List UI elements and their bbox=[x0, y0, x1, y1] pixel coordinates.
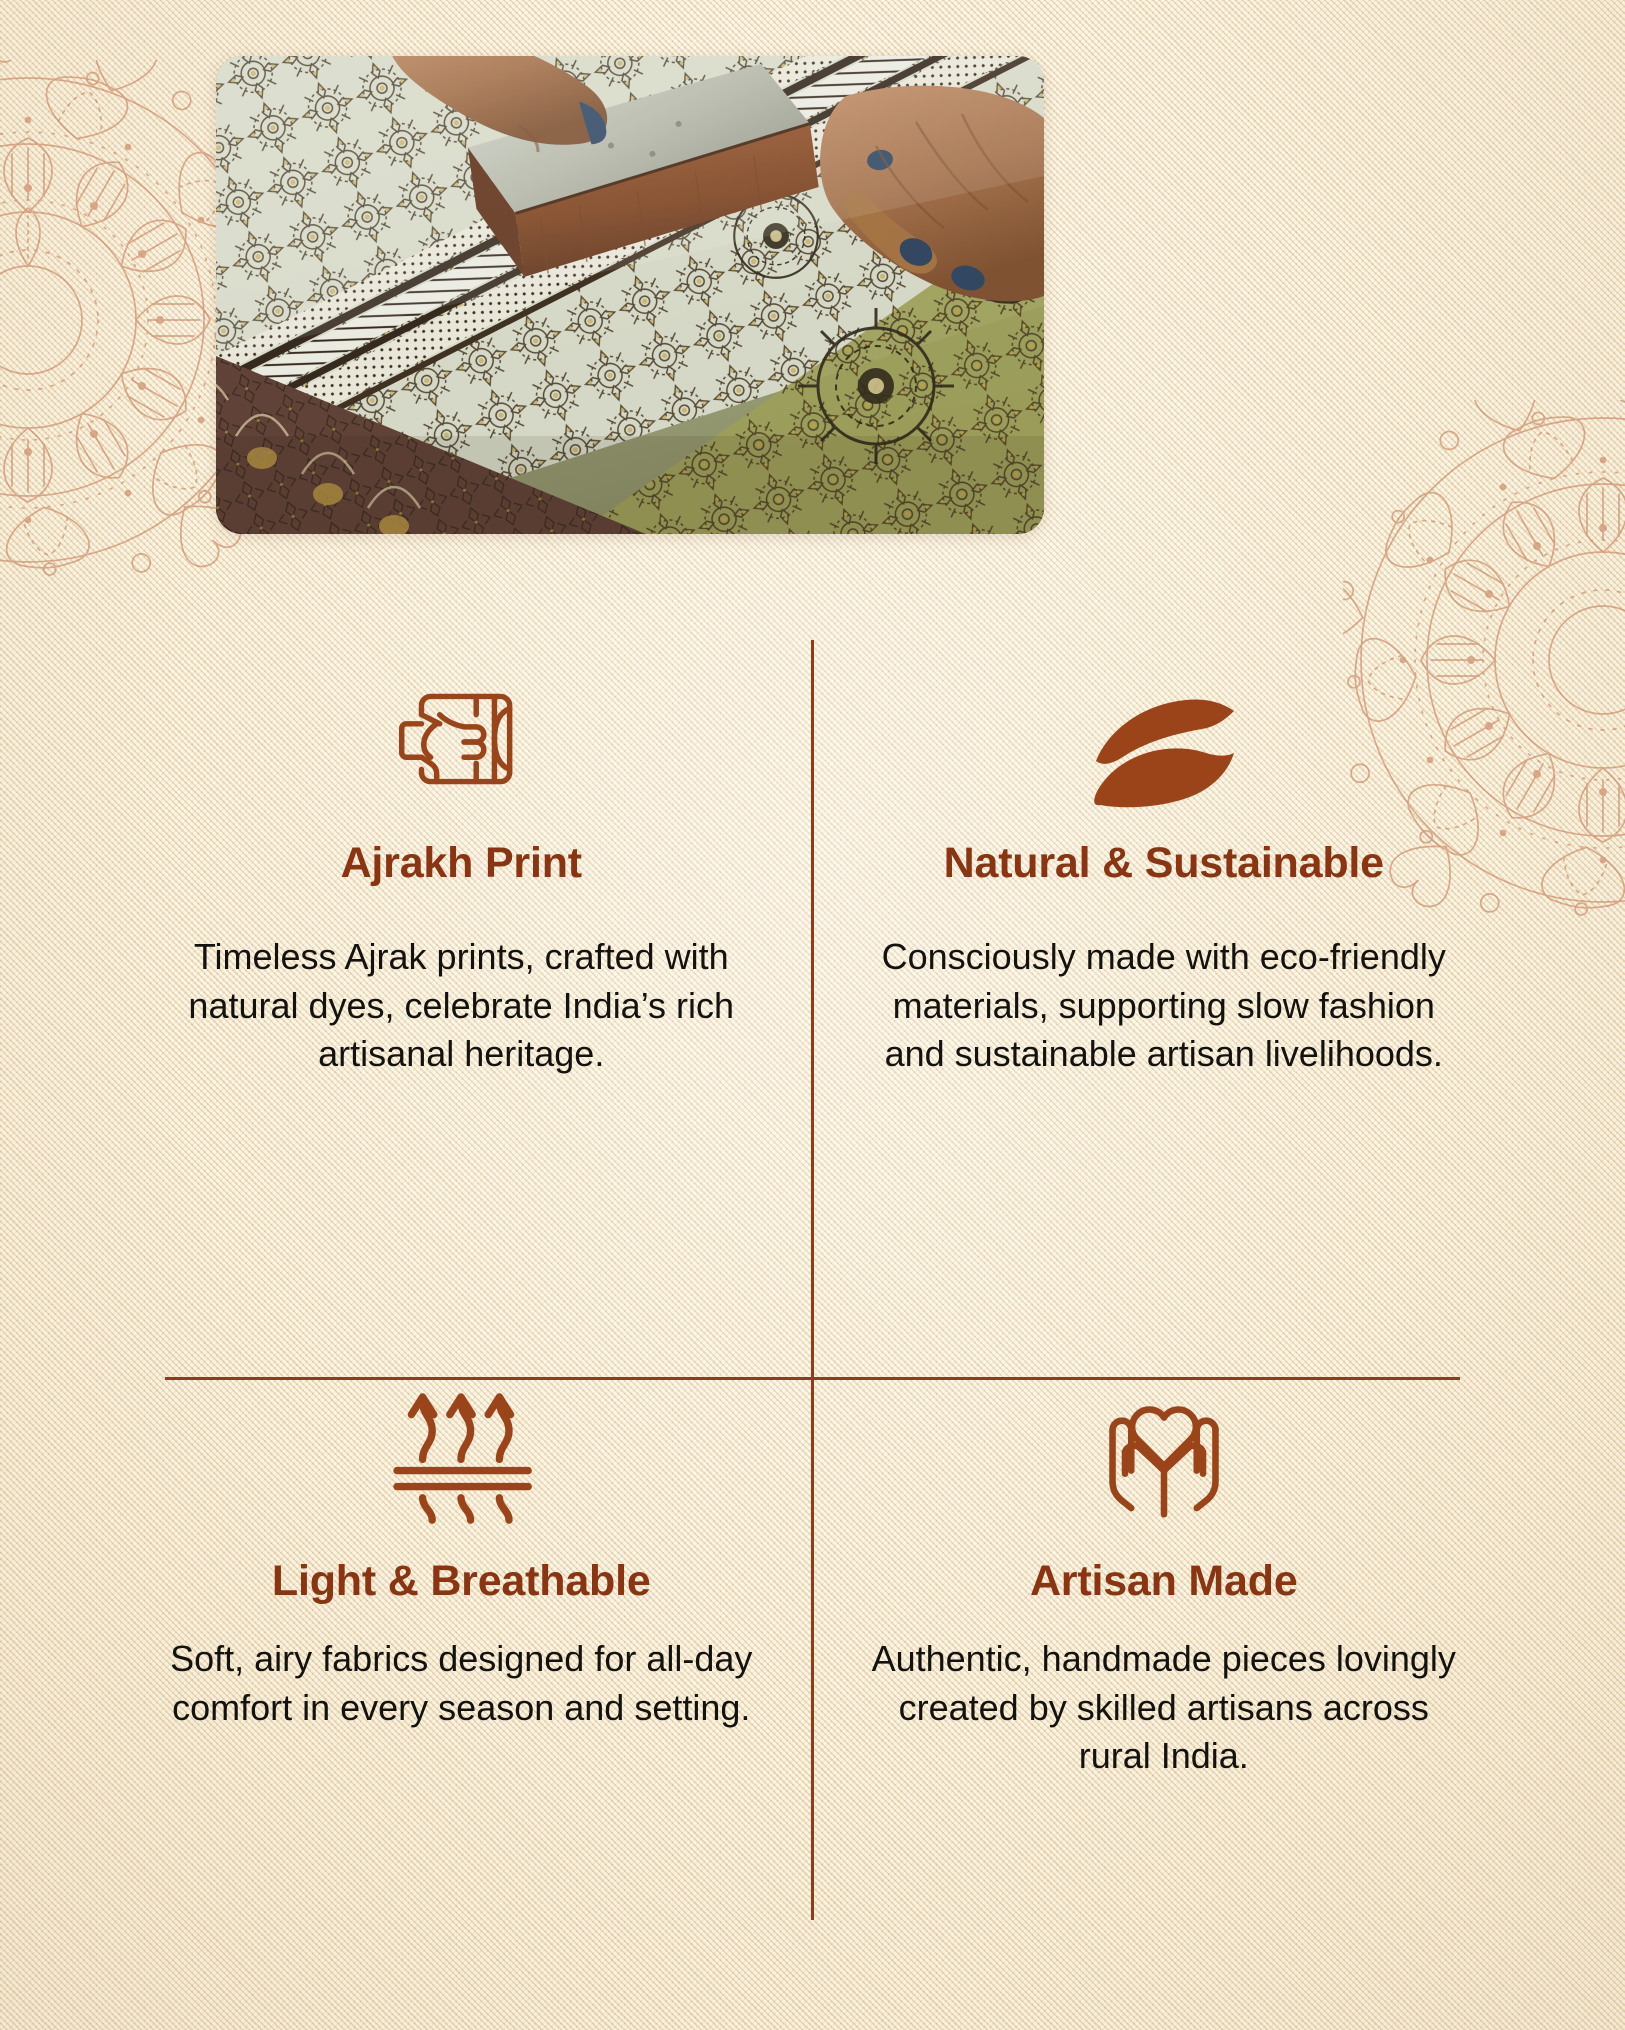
feature-title: Artisan Made bbox=[849, 1558, 1480, 1605]
feature-card-artisan-made: Artisan Made Authentic, handmade pieces … bbox=[813, 1352, 1516, 1872]
hand-block-print-icon bbox=[385, 663, 537, 820]
feature-title: Light & Breathable bbox=[146, 1558, 777, 1605]
horizontal-divider bbox=[165, 1377, 1460, 1380]
hands-heart-icon bbox=[1086, 1377, 1242, 1538]
feature-card-natural-sustainable: Natural & Sustainable Consciously made w… bbox=[813, 640, 1516, 1352]
leaf-icon bbox=[1078, 687, 1250, 820]
feature-title: Natural & Sustainable bbox=[849, 840, 1480, 887]
breathable-fabric-icon bbox=[381, 1373, 541, 1538]
vertical-divider bbox=[811, 640, 814, 1920]
feature-icon-wrap bbox=[849, 650, 1480, 820]
ajrakh-block-printing-photo bbox=[216, 56, 1044, 534]
hero-image-container bbox=[216, 56, 1044, 534]
feature-description: Consciously made with eco-friendly mater… bbox=[864, 933, 1464, 1078]
feature-card-light-breathable: Light & Breathable Soft, airy fabrics de… bbox=[110, 1352, 813, 1872]
feature-description: Authentic, handmade pieces lovingly crea… bbox=[864, 1635, 1464, 1780]
feature-icon-wrap bbox=[146, 1362, 777, 1538]
feature-description: Timeless Ajrak prints, crafted with natu… bbox=[161, 933, 761, 1078]
feature-card-ajrakh-print: Ajrakh Print Timeless Ajrak prints, craf… bbox=[110, 640, 813, 1352]
feature-icon-wrap bbox=[146, 650, 777, 820]
feature-title: Ajrakh Print bbox=[146, 840, 777, 887]
feature-description: Soft, airy fabrics designed for all-day … bbox=[161, 1635, 761, 1731]
feature-icon-wrap bbox=[849, 1362, 1480, 1538]
